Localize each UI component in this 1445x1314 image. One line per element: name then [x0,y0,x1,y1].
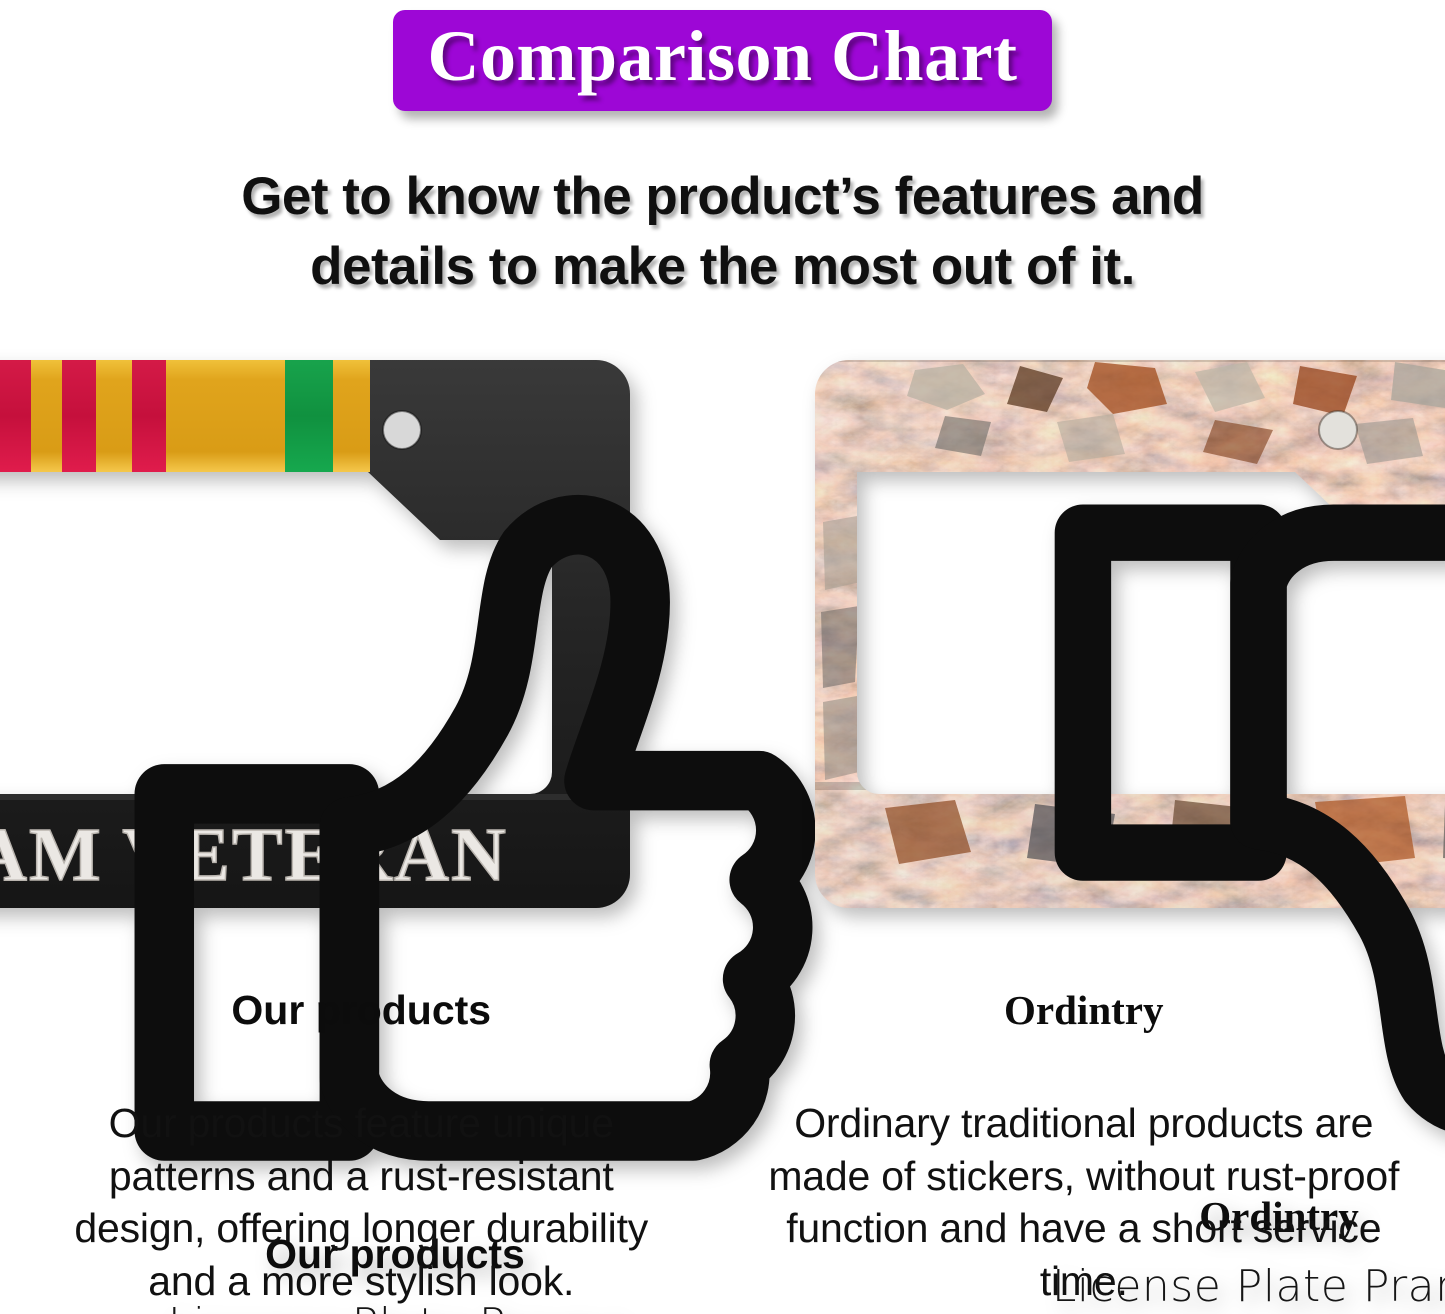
subheading-line-2: details to make the most out of it. [90,232,1355,302]
subheading-line-1: Get to know the product’s features and [90,162,1355,232]
subheading: Get to know the product’s features and d… [0,162,1445,302]
header-banner-container: Comparison Chart [0,10,1445,111]
our-product-frame-image: AM VETERAN Our products License Plate Pr… [0,352,690,914]
plate-text: AM VETERAN [0,813,508,897]
page-title: Comparison Chart [427,16,1017,97]
ordinary-product-detail-body: Ordinary traditional products are made o… [763,1097,1406,1307]
ordinary-product-detail-column: Ordintry Ordinary traditional products a… [723,988,1445,1314]
comparison-chart-banner: Comparison Chart [393,10,1051,111]
detail-columns: Our products Our products feature unique… [0,988,1445,1314]
product-comparison-images: AM VETERAN Our products License Plate Pr… [0,352,1445,932]
ordinary-product-frame-image: Ordintry License Plate Prame [795,352,1445,914]
our-product-detail-body: Our products feature unique patterns and… [40,1097,683,1307]
our-product-detail-title: Our products [40,988,683,1033]
our-product-detail-column: Our products Our products feature unique… [0,988,723,1314]
ordinary-product-detail-title: Ordintry [763,988,1406,1033]
